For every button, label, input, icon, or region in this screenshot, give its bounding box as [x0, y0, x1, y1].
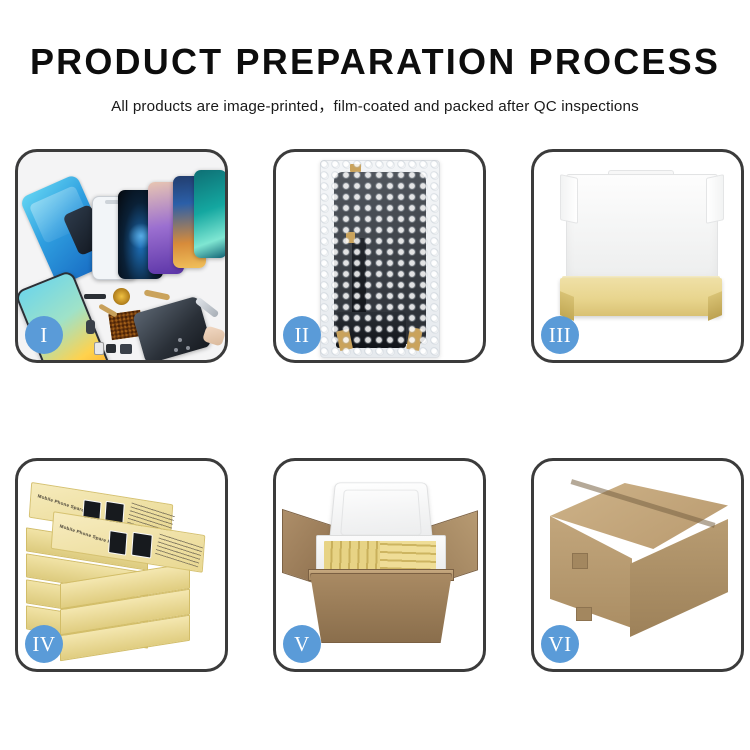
speaker-bar-icon [84, 294, 106, 299]
box-side-right-icon [708, 291, 722, 321]
screw-icon [186, 346, 190, 350]
connector-module-icon [120, 344, 132, 354]
sim-tray-icon [94, 342, 104, 355]
step-2-badge: II [283, 316, 321, 354]
phone-teal-icon [194, 170, 225, 258]
step-6-badge: VI [541, 625, 579, 663]
box-product-photo-icon [108, 530, 128, 556]
kraft-box-base-icon [560, 278, 722, 316]
page-title: PRODUCT PREPARATION PROCESS [0, 0, 750, 80]
screw-icon [178, 338, 182, 342]
flex-cable-1-icon [144, 289, 171, 300]
box-spec-text-lines [155, 533, 203, 568]
screw-icon [174, 348, 178, 352]
vibrator-module-icon [86, 320, 95, 334]
box-lid-flap-right-icon [706, 174, 724, 224]
carton-tape-icon [576, 607, 592, 621]
step-1-badge: I [25, 316, 63, 354]
process-step-2[interactable]: II [273, 149, 486, 363]
process-step-1[interactable]: I [15, 149, 228, 363]
header: PRODUCT PREPARATION PROCESS All products… [0, 0, 750, 116]
process-step-6[interactable]: VI [531, 458, 744, 672]
process-steps-grid: I II [15, 149, 735, 676]
camera-module-icon [106, 344, 116, 353]
product-preparation-process-page: PRODUCT PREPARATION PROCESS All products… [0, 0, 750, 750]
copper-coil-icon [113, 288, 130, 305]
tape-piece-icon [350, 164, 361, 172]
step-3-badge: III [541, 316, 579, 354]
process-step-3[interactable]: III [531, 149, 744, 363]
tape-piece-icon [346, 232, 355, 243]
box-product-photo-icon [131, 532, 153, 559]
process-step-4[interactable]: Mobile Phone Spare Parts Mobile Phone Sp… [15, 458, 228, 672]
page-subtitle: All products are image-printed，film-coat… [0, 80, 750, 116]
carton-front-icon [310, 573, 452, 643]
step-5-badge: V [283, 625, 321, 663]
step-4-badge: IV [25, 625, 63, 663]
box-white-lid-icon [566, 174, 718, 286]
process-step-5[interactable]: V [273, 458, 486, 672]
box-lid-flap-left-icon [560, 174, 578, 224]
carton-tape-icon [572, 553, 588, 569]
